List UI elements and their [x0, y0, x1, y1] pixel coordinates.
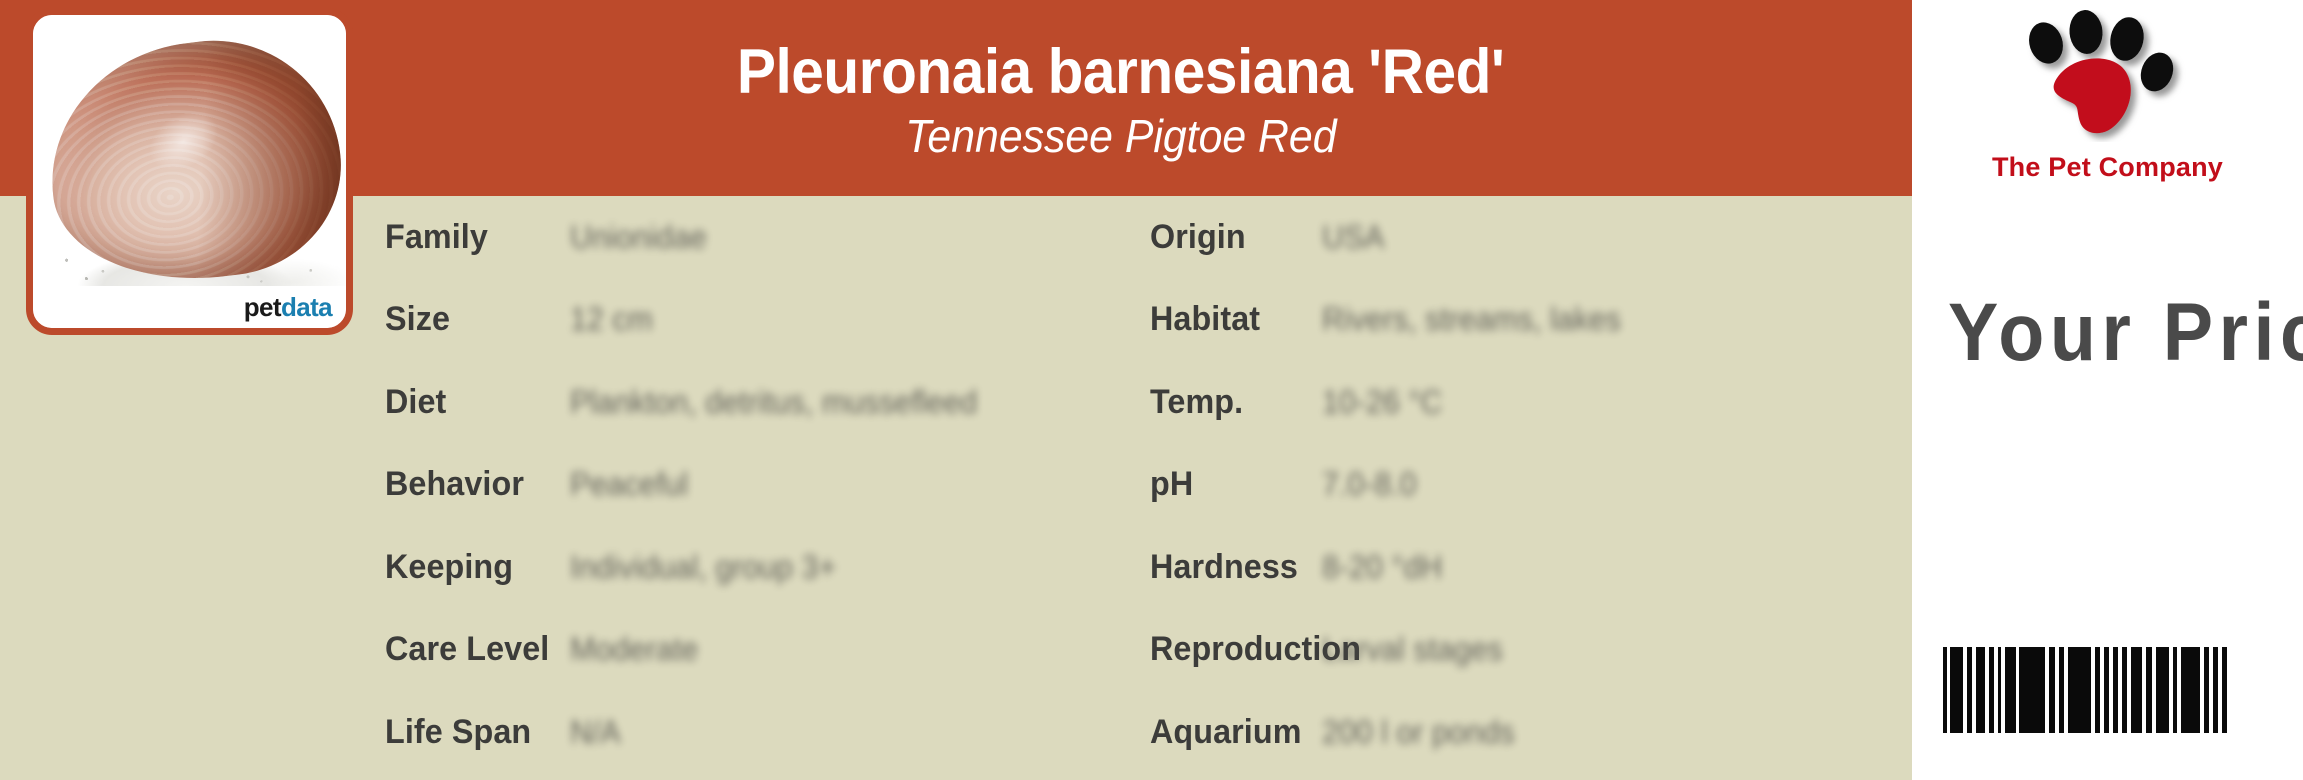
brand-name-text: The Pet Company: [1912, 152, 2303, 183]
paw-toe-outer-left: [2023, 18, 2067, 68]
attribute-row: Life Span N/A: [385, 691, 1145, 774]
main-panel: Pleuronaia barnesiana 'Red' Tennessee Pi…: [0, 0, 1912, 780]
attribute-value: 200 l or ponds: [1322, 714, 1515, 751]
attribute-value: Rivers, streams, lakes: [1322, 301, 1621, 338]
attribute-key: Origin: [1150, 218, 1313, 257]
brand-logo: The Pet Company: [1912, 6, 2303, 196]
species-common-name: Tennessee Pigtoe Red: [905, 111, 1336, 162]
attribute-row: Diet Plankton, detritus, mussefleed: [385, 361, 1145, 444]
price-side-panel: The Pet Company Your Price: [1912, 0, 2303, 780]
attribute-value: Unionidae: [570, 219, 707, 256]
attribute-key: Care Level: [385, 630, 561, 669]
attribute-value: 12 cm: [570, 301, 653, 338]
attribute-key: Keeping: [385, 548, 561, 587]
attribute-column-right: Origin USA Habitat Rivers, streams, lake…: [1150, 196, 1910, 780]
barcode-bar: [2005, 647, 2016, 733]
attribute-row: Size 12 cm: [385, 279, 1145, 362]
attribute-row: Hardness 8-20 °dH: [1150, 526, 1910, 609]
paw-print-icon: [2018, 10, 2198, 142]
barcode-bar: [1950, 647, 1963, 733]
attribute-key: Diet: [385, 383, 561, 422]
attribute-row: Reproduction Larval stages: [1150, 609, 1910, 692]
attribute-table: Family Unionidae Size 12 cm Diet Plankto…: [0, 196, 1912, 780]
paw-toe-inner-right: [2106, 14, 2147, 64]
paw-toe-outer-right: [2135, 48, 2179, 97]
attribute-value: Larval stages: [1322, 631, 1503, 668]
attribute-row: Origin USA: [1150, 196, 1910, 279]
attribute-row: Behavior Peaceful: [385, 444, 1145, 527]
attribute-value: Moderate: [570, 631, 698, 668]
species-price-label: Pleuronaia barnesiana 'Red' Tennessee Pi…: [0, 0, 2303, 780]
attribute-key: Hardness: [1150, 548, 1313, 587]
attribute-row: Care Level Moderate: [385, 609, 1145, 692]
attribute-row: Habitat Rivers, streams, lakes: [1150, 279, 1910, 362]
paw-main-pad: [2053, 58, 2130, 133]
attribute-key: Reproduction: [1150, 630, 1313, 669]
attribute-key: Aquarium: [1150, 713, 1313, 752]
attribute-value: 8-20 °dH: [1322, 549, 1442, 586]
attribute-value: N/A: [570, 714, 621, 751]
attribute-row: Keeping Individual, group 3+: [385, 526, 1145, 609]
species-scientific-name: Pleuronaia barnesiana 'Red': [737, 40, 1504, 106]
barcode-bar: [2222, 647, 2227, 733]
attribute-value: USA: [1322, 219, 1385, 256]
your-price-label: Your Price: [1948, 292, 2303, 374]
title-block: Pleuronaia barnesiana 'Red' Tennessee Pi…: [330, 0, 1912, 196]
attribute-key: Life Span: [385, 713, 561, 752]
attribute-value: Individual, group 3+: [570, 549, 836, 586]
attribute-key: Habitat: [1150, 300, 1313, 339]
attribute-row: Temp. 10-26 °C: [1150, 361, 1910, 444]
attribute-key: pH: [1150, 465, 1313, 504]
barcode-bar: [2068, 647, 2091, 733]
barcode: [1943, 647, 2227, 733]
attribute-key: Temp.: [1150, 383, 1313, 422]
attribute-key: Family: [385, 218, 561, 257]
barcode-bar: [2156, 647, 2169, 733]
attribute-key: Size: [385, 300, 561, 339]
barcode-bar: [2181, 647, 2200, 733]
attribute-value: 10-26 °C: [1322, 384, 1442, 421]
barcode-bar: [1976, 647, 1985, 733]
attribute-key: Behavior: [385, 465, 561, 504]
attribute-value: Plankton, detritus, mussefleed: [570, 384, 977, 421]
attribute-column-left: Family Unionidae Size 12 cm Diet Plankto…: [385, 196, 1145, 780]
attribute-row: Family Unionidae: [385, 196, 1145, 279]
barcode-bar: [2019, 647, 2045, 733]
attribute-value: Peaceful: [570, 466, 688, 503]
attribute-row: Aquarium 200 l or ponds: [1150, 691, 1910, 774]
paw-toe-inner-left: [2067, 10, 2104, 55]
attribute-value: 7.0-8.0: [1322, 466, 1417, 503]
barcode-bar: [2131, 647, 2142, 733]
attribute-row: pH 7.0-8.0: [1150, 444, 1910, 527]
